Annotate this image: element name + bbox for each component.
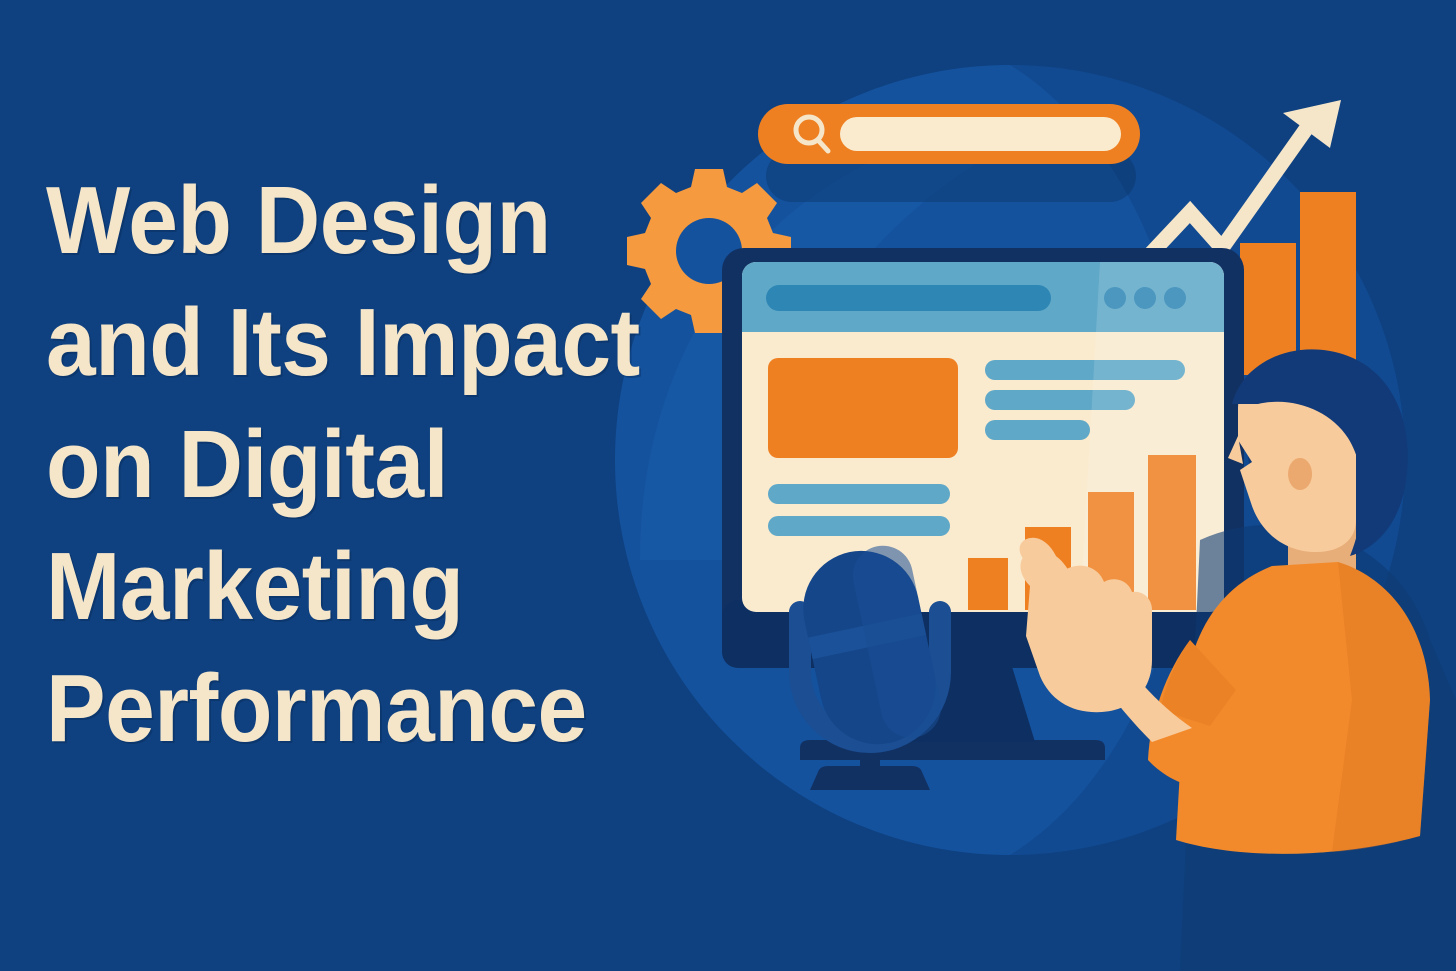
person-ear [1288,458,1312,490]
screen-bar-1 [968,558,1008,610]
background-bar-2 [1300,192,1356,375]
search-bar [758,104,1140,202]
title-line-1: Web Design [46,160,641,282]
browser-window [742,262,1224,612]
page-title: Web Design and Its Impact on Digital Mar… [46,160,686,770]
search-input-field [840,117,1121,151]
content-line-4 [768,484,950,504]
title-line-2: and Its Impact [46,282,641,404]
browser-url-pill [766,285,1051,311]
content-line-3 [985,420,1090,440]
hero-banner: Web Design and Its Impact on Digital Mar… [0,0,1456,971]
title-line-3: on Digital [46,404,641,526]
title-line-5: Performance [46,648,641,770]
content-line-5 [768,516,950,536]
title-line-4: Marketing [46,526,641,648]
content-image-block [768,358,958,458]
